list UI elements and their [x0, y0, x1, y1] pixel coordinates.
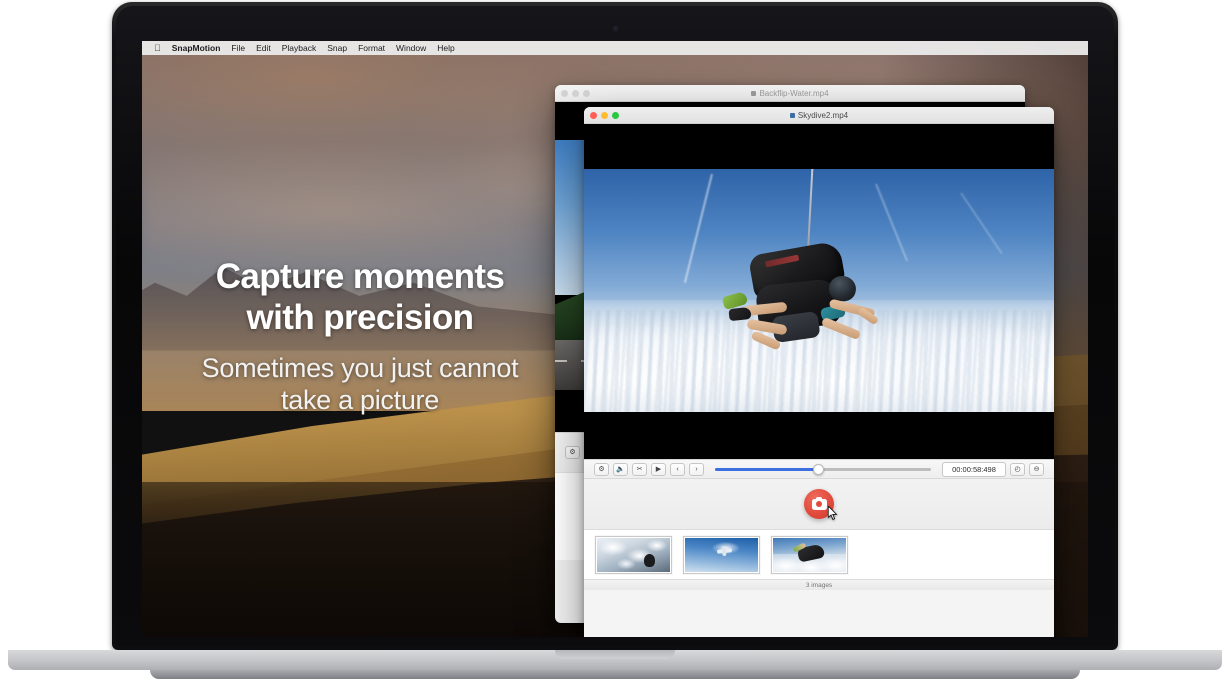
screenshot-root: MacBook Pro  SnapMotion File Edit Playb… — [0, 0, 1230, 700]
menu-item-file[interactable]: File — [231, 43, 245, 53]
minimize-button[interactable] — [601, 112, 608, 119]
menu-item-snap[interactable]: Snap — [327, 43, 347, 53]
webcam-icon — [613, 26, 618, 31]
skydiver-subject — [725, 242, 885, 352]
window-titlebar-background[interactable]: Backflip-Water.mp4 — [555, 85, 1025, 102]
image-count-label: 3 images — [806, 582, 832, 589]
hero-copy: Capture moments with precision Sometimes… — [170, 256, 550, 416]
play-button[interactable]: ▶ — [651, 463, 666, 476]
thumbnail-3[interactable] — [771, 536, 848, 574]
status-bar: 3 images — [584, 579, 1054, 590]
screen:  SnapMotion File Edit Playback Snap For… — [142, 41, 1088, 637]
menu-bar:  SnapMotion File Edit Playback Snap For… — [142, 41, 1088, 55]
window-skydive2[interactable]: Skydive2.mp4 — [584, 107, 1054, 637]
mouse-cursor-icon — [828, 506, 839, 521]
next-frame-button[interactable]: › — [689, 463, 704, 476]
scrubber[interactable] — [715, 463, 931, 476]
menu-item-app[interactable]: SnapMotion — [172, 43, 221, 53]
thumbnail-strip[interactable] — [584, 529, 1054, 579]
headline-line-2: with precision — [247, 298, 474, 337]
maximize-button[interactable] — [583, 90, 590, 97]
minimize-button[interactable] — [572, 90, 579, 97]
file-icon — [751, 91, 756, 96]
previous-frame-button[interactable]: ‹ — [670, 463, 685, 476]
trim-button[interactable]: ✂ — [632, 463, 647, 476]
page-subtitle: Sometimes you just cannot take a picture — [170, 352, 550, 417]
camera-icon — [812, 499, 827, 510]
laptop-foot — [150, 670, 1080, 679]
timecode-field[interactable]: 00:00:58:498 — [942, 462, 1006, 477]
capture-area — [584, 479, 1054, 529]
settings-button-background[interactable]: ⚙ — [565, 446, 580, 459]
collapse-button[interactable]: ⊖ — [1029, 463, 1044, 476]
video-stage-front[interactable] — [584, 124, 1054, 459]
subline-2: take a picture — [281, 385, 439, 415]
player-controls[interactable]: ⚙ 🔈 ✂ ▶ ‹ › 00:00:58:498 ◴ ⊖ — [584, 459, 1054, 479]
close-button[interactable] — [590, 112, 597, 119]
menu-item-playback[interactable]: Playback — [282, 43, 317, 53]
window-titlebar-front[interactable]: Skydive2.mp4 — [584, 107, 1054, 124]
apple-menu-icon[interactable]:  — [154, 44, 161, 53]
laptop-base — [8, 650, 1222, 670]
close-button[interactable] — [561, 90, 568, 97]
traffic-lights[interactable] — [590, 112, 619, 119]
menu-item-format[interactable]: Format — [358, 43, 385, 53]
thumbnail-2[interactable] — [683, 536, 760, 574]
video-frame-front — [584, 169, 1054, 412]
window-title-front: Skydive2.mp4 — [798, 111, 848, 120]
thumbnail-1[interactable] — [595, 536, 672, 574]
traffic-lights-inactive[interactable] — [561, 90, 590, 97]
menu-item-edit[interactable]: Edit — [256, 43, 271, 53]
maximize-button[interactable] — [612, 112, 619, 119]
menu-item-window[interactable]: Window — [396, 43, 426, 53]
scrubber-knob[interactable] — [813, 464, 824, 475]
letterbox-bottom — [584, 412, 1054, 459]
menu-item-help[interactable]: Help — [437, 43, 454, 53]
page-title: Capture moments with precision — [170, 256, 550, 339]
volume-button[interactable]: 🔈 — [613, 463, 628, 476]
headline-line-1: Capture moments — [216, 257, 505, 296]
letterbox-top — [584, 124, 1054, 169]
file-icon — [790, 113, 795, 118]
window-title-background: Backflip-Water.mp4 — [759, 89, 828, 98]
loop-button[interactable]: ◴ — [1010, 463, 1025, 476]
subline-1: Sometimes you just cannot — [202, 353, 519, 383]
settings-button[interactable]: ⚙ — [594, 463, 609, 476]
scrubber-fill — [715, 468, 819, 471]
